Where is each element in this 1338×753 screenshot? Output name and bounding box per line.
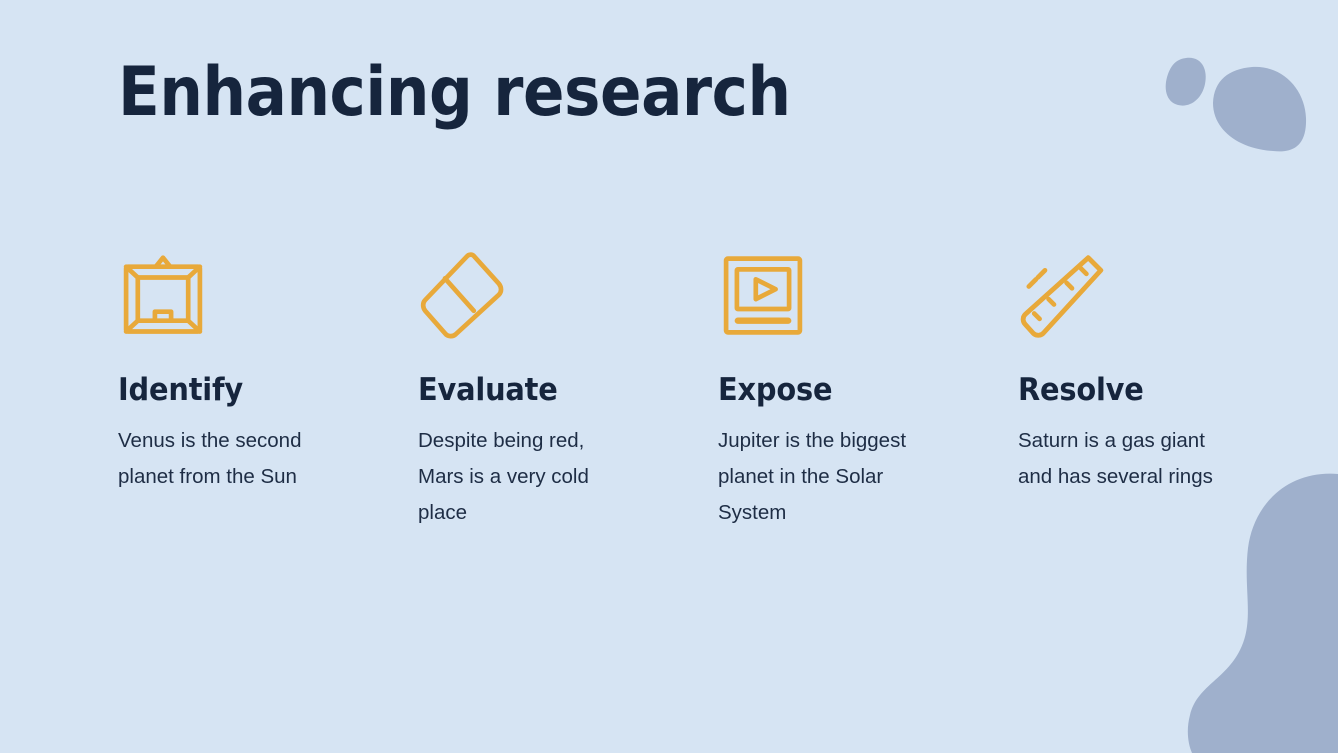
feature-heading: Resolve [1018, 373, 1271, 407]
feature-body: Despite being red, Mars is a very cold p… [418, 423, 633, 531]
feature-columns: Identify Venus is the second planet from… [118, 248, 1328, 531]
feature-heading: Identify [118, 373, 371, 407]
feature-body: Jupiter is the biggest planet in the Sol… [718, 423, 933, 531]
feature-column-evaluate: Evaluate Despite being red, Mars is a ve… [418, 248, 718, 531]
picture-frame-icon [118, 248, 208, 343]
feature-column-expose: Expose Jupiter is the biggest planet in … [718, 248, 1018, 531]
feature-heading: Expose [718, 373, 971, 407]
eraser-icon [418, 248, 508, 343]
page-title: Enhancing research [118, 57, 791, 128]
feature-column-resolve: Resolve Saturn is a gas giant and has se… [1018, 248, 1318, 531]
blob-small-top-right-icon [1166, 58, 1206, 106]
pencil-ruler-icon [1018, 248, 1108, 343]
feature-body: Venus is the second planet from the Sun [118, 423, 333, 495]
video-player-icon [718, 248, 808, 343]
feature-column-identify: Identify Venus is the second planet from… [118, 248, 418, 531]
slide-canvas: Enhancing research Identify Venus is the… [0, 0, 1338, 753]
feature-heading: Evaluate [418, 373, 671, 407]
feature-body: Saturn is a gas giant and has several ri… [1018, 423, 1233, 495]
blob-large-top-right-icon [1213, 67, 1306, 151]
